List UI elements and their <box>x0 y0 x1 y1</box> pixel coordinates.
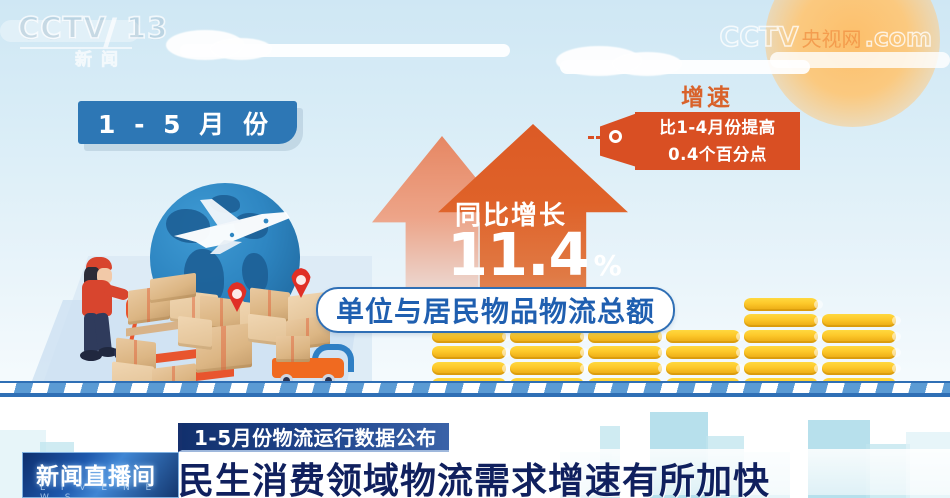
coin <box>510 362 584 375</box>
coin <box>588 346 662 359</box>
coin <box>822 314 896 327</box>
coin <box>666 330 740 343</box>
coin <box>666 346 740 359</box>
coin <box>744 346 818 359</box>
news-kicker: 1-5月份物流运行数据公布 <box>178 423 449 452</box>
coin <box>588 362 662 375</box>
broadcast-frame: CCTV / 13 新闻 CCTV 央视网 .com 1 - 5 月 份 同比增… <box>0 0 950 498</box>
coin <box>666 362 740 375</box>
coin <box>744 362 818 375</box>
news-headline: 民生消费领域物流需求增速有所加快 <box>178 452 770 498</box>
cardboard-box-open <box>178 316 212 350</box>
cardboard-box-on-agv <box>276 336 310 362</box>
coin <box>822 362 896 375</box>
coin <box>432 346 506 359</box>
coin <box>744 314 818 327</box>
coin <box>744 330 818 343</box>
coin <box>510 346 584 359</box>
program-name-en: L I V E N E W S <box>40 483 178 498</box>
coin <box>744 298 818 311</box>
airplane-icon <box>166 196 296 260</box>
coin <box>432 362 506 375</box>
road-barrier-stripes <box>0 383 950 393</box>
metric-title-pill: 单位与居民物品物流总额 <box>316 287 675 333</box>
coin <box>822 330 896 343</box>
program-logo: 新闻直播间 L I V E N E W S <box>22 452 179 498</box>
coin <box>822 346 896 359</box>
